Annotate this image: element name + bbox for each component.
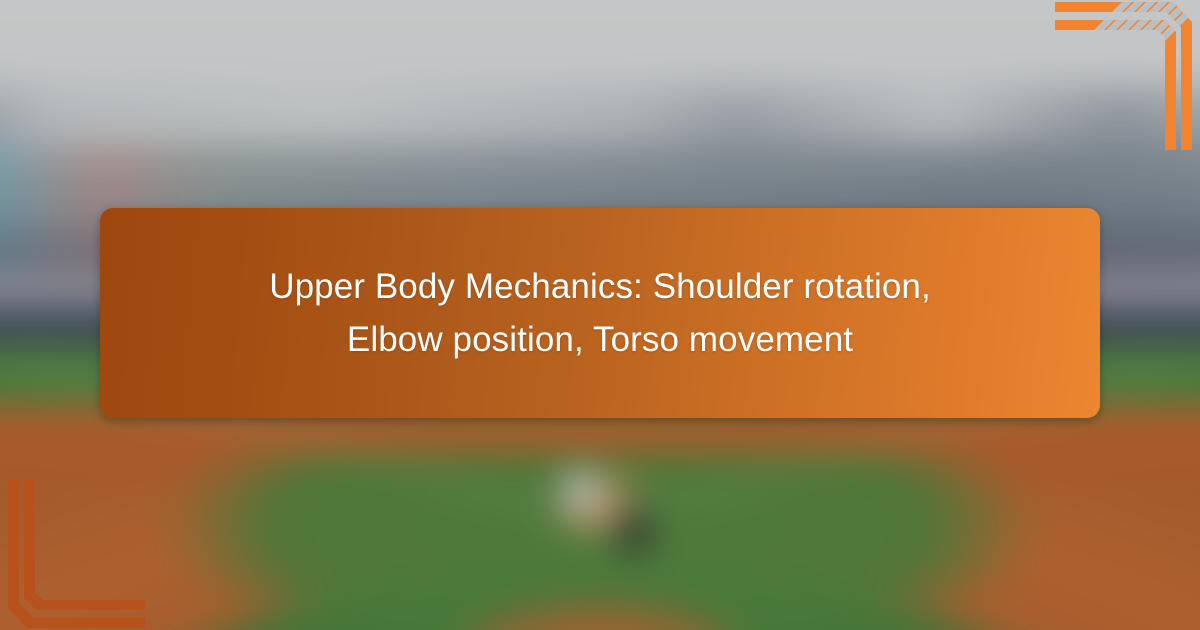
player-figure-light: [562, 469, 597, 510]
player-figure-dark: [616, 511, 651, 552]
page-title: Upper Body Mechanics: Shoulder rotation,…: [220, 260, 980, 366]
title-line-1: Upper Body Mechanics: Shoulder rotation,: [269, 267, 931, 306]
title-line-2: Elbow position, Torso movement: [347, 320, 853, 359]
title-card: Upper Body Mechanics: Shoulder rotation,…: [100, 208, 1100, 418]
